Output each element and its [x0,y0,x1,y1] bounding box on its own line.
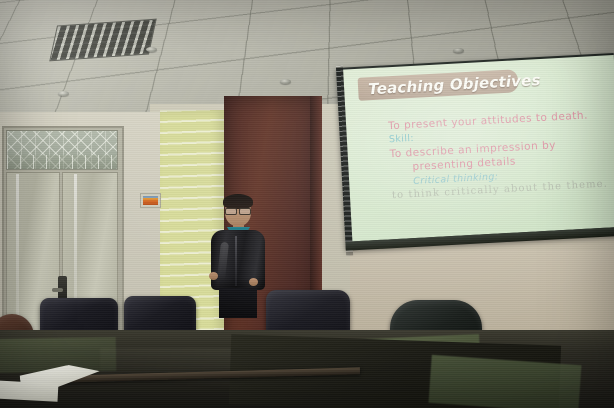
presenter-person [205,196,269,316]
slide-body: To present your attitudes to death. Skil… [388,107,614,203]
presenter-hair [223,194,253,209]
classroom-photo: Teaching Objectives To present your atti… [0,0,614,408]
jacket-zipper [235,236,237,286]
table-surface-green [429,355,582,408]
papers-on-table [0,380,58,401]
presenter-legs [219,288,257,318]
projection-screen: Teaching Objectives To present your atti… [336,53,614,258]
slide-canvas: Teaching Objectives To present your atti… [343,55,614,241]
wall-sign-graphic [143,196,158,205]
presenter-hand-right [249,278,258,286]
wall-notice-sign [140,193,161,208]
slide-title-banner: Teaching Objectives [358,69,519,101]
transom-window [6,130,118,170]
transom-lower-grille [7,155,117,169]
door-knob-icon[interactable] [52,288,63,292]
slide-title-text: Teaching Objectives [358,70,541,98]
glasses-icon [225,208,251,213]
presenter-hand-left [209,272,218,280]
